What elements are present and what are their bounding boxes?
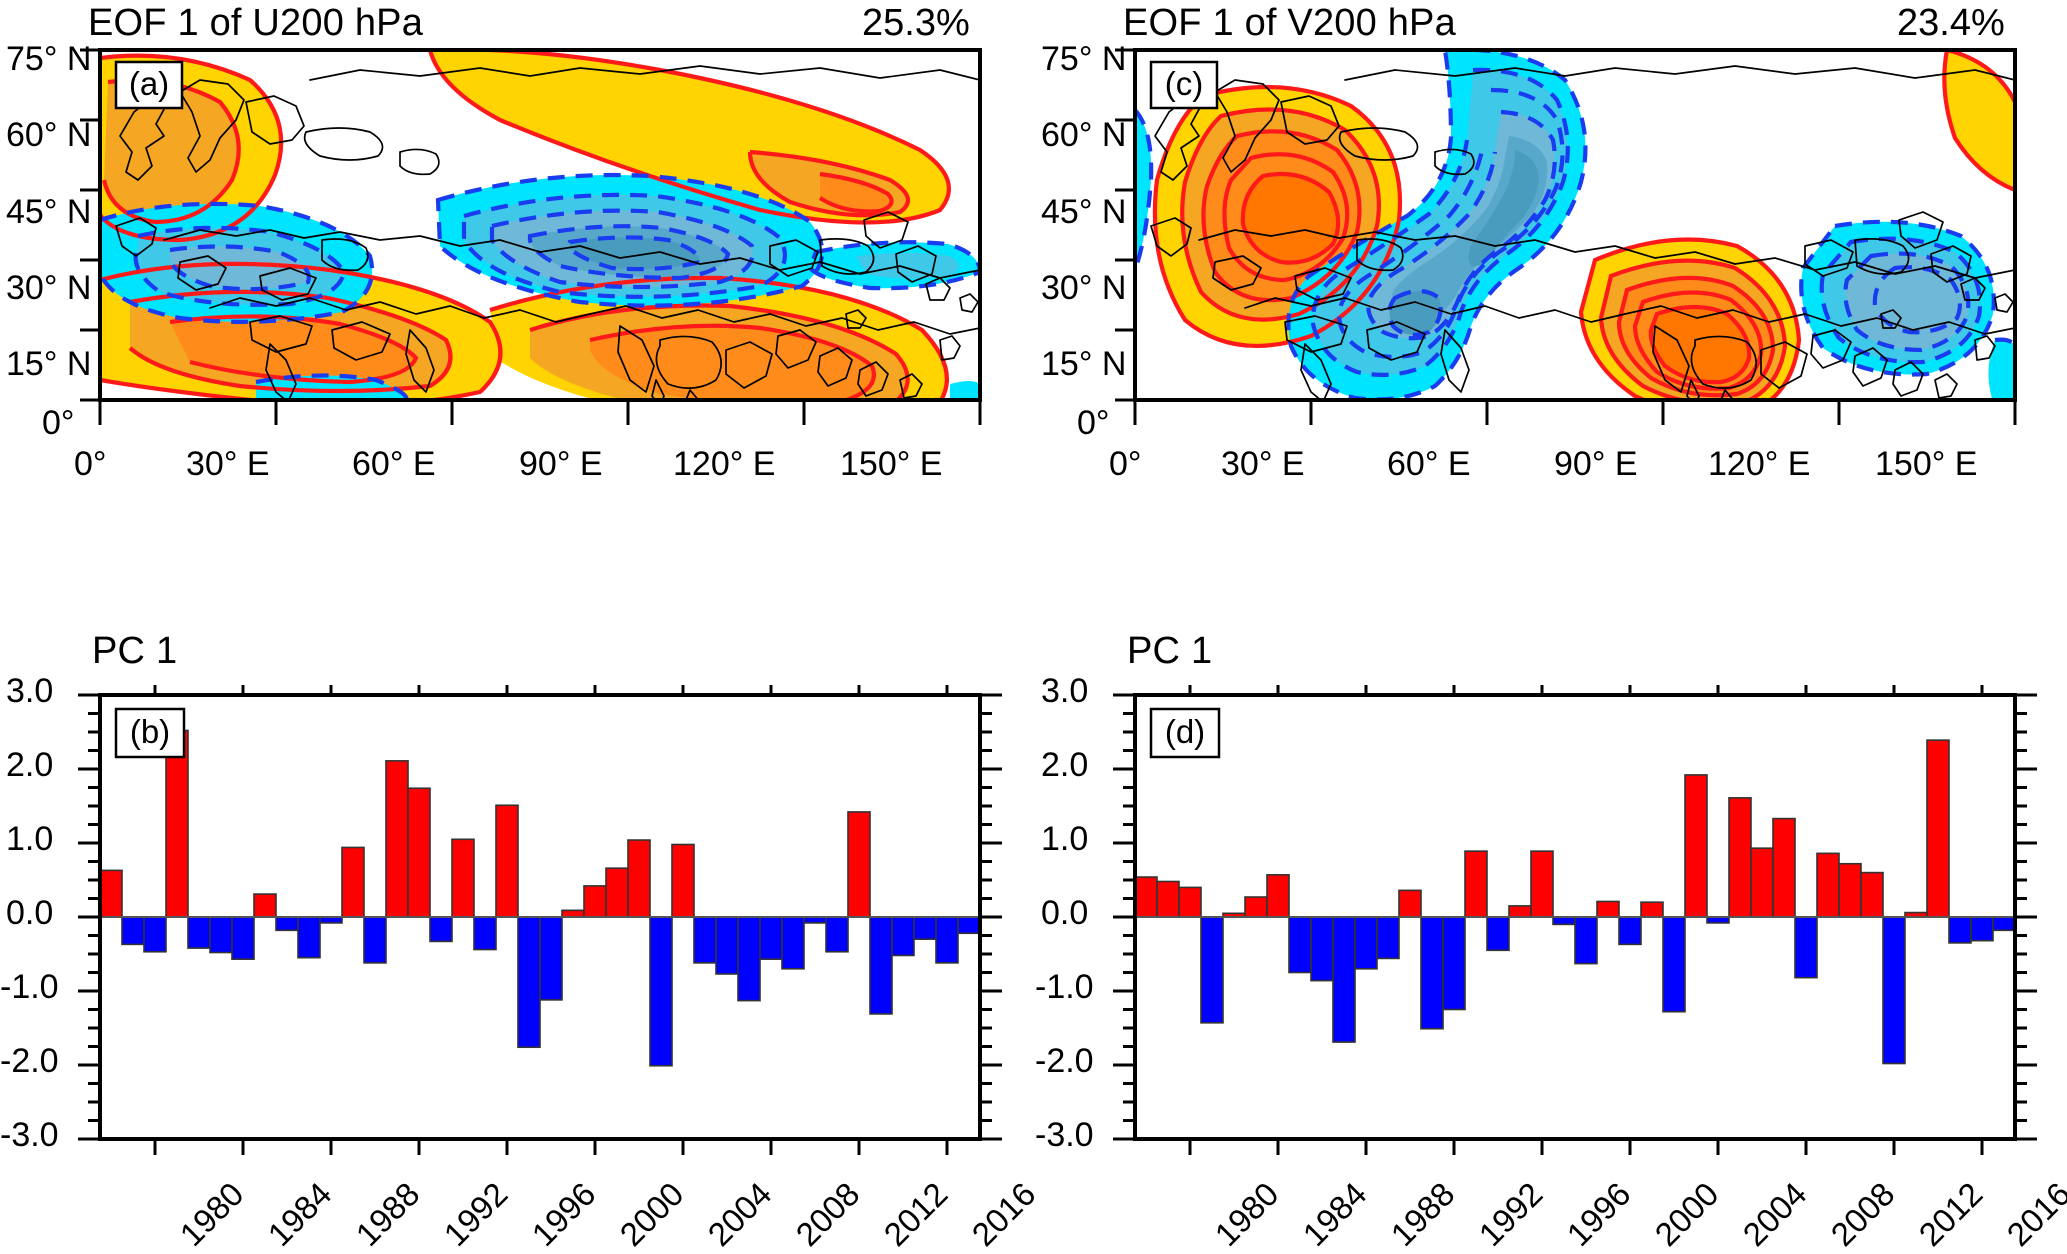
bar [848, 812, 870, 917]
panel-d-y-0: 0.0 [1041, 894, 1088, 933]
year-label: 2016 [965, 1175, 1044, 1254]
panel-c-plot: (c) [1095, 40, 2055, 460]
bar [1883, 917, 1905, 1064]
panel-b-plot: (b) [60, 685, 1020, 1155]
panel-d-label-text: (d) [1165, 713, 1205, 750]
bar [1685, 775, 1707, 917]
bar [650, 917, 672, 1066]
bar [782, 917, 804, 969]
bar [1531, 851, 1553, 917]
bar [584, 886, 606, 917]
bar [1839, 864, 1861, 917]
year-label: 2004 [1736, 1175, 1815, 1254]
year-label: 1980 [1208, 1175, 1287, 1254]
bar [166, 731, 188, 917]
year-label: 2012 [1912, 1175, 1991, 1254]
panel-b-y-0: 0.0 [6, 894, 53, 933]
bar [1619, 917, 1641, 944]
bar [452, 839, 474, 917]
year-label: 2008 [1824, 1175, 1903, 1254]
bar [1135, 877, 1157, 917]
bar [1465, 851, 1487, 917]
bar [1333, 917, 1355, 1042]
year-label: 1996 [525, 1175, 604, 1254]
panel-c-variance: 23.4% [1897, 2, 2005, 45]
bar [1399, 890, 1421, 917]
panel-d-plot: (d) [1095, 685, 2055, 1155]
panel-b-y-3: 3.0 [6, 672, 53, 711]
bar [1927, 740, 1949, 917]
bar [496, 805, 518, 917]
panel-c-label-text: (c) [1165, 65, 1203, 102]
panel-d-bars [1135, 740, 2015, 1063]
year-label: 1992 [437, 1175, 516, 1254]
year-label: 1996 [1560, 1175, 1639, 1254]
panel-a-title: EOF 1 of U200 hPa [88, 2, 423, 45]
bar [342, 847, 364, 917]
bar [1509, 906, 1531, 917]
bar [298, 917, 320, 958]
bar [386, 761, 408, 917]
bar [738, 917, 760, 1001]
bar [1267, 875, 1289, 917]
bar [1421, 917, 1443, 1029]
panel-b-y-m3: -3.0 [0, 1116, 59, 1155]
panel-b-label-text: (b) [130, 713, 170, 750]
panel-d-y-3: 3.0 [1041, 672, 1088, 711]
panel-a-label-text: (a) [129, 65, 169, 102]
bar [1729, 798, 1751, 917]
bar [1575, 917, 1597, 964]
year-label: 2016 [2000, 1175, 2067, 1254]
year-label: 1984 [1296, 1175, 1375, 1254]
panel-d-y-1: 1.0 [1041, 820, 1088, 859]
bar [760, 917, 782, 959]
panel-b-y-1: 1.0 [6, 820, 53, 859]
panel-d-title: PC 1 [1127, 630, 1212, 673]
bar [1311, 917, 1333, 981]
bar [672, 844, 694, 917]
bar [1795, 917, 1817, 978]
bar [1817, 853, 1839, 917]
year-label: 2012 [877, 1175, 956, 1254]
bar [1157, 881, 1179, 917]
panel-a-plot: (a) [60, 40, 1020, 460]
bar [958, 917, 980, 933]
year-label: 2008 [789, 1175, 868, 1254]
bar [1993, 917, 2015, 930]
bar [254, 894, 276, 917]
panel-a-variance: 25.3% [862, 2, 970, 45]
year-label: 1992 [1472, 1175, 1551, 1254]
bar [870, 917, 892, 1014]
bar [628, 840, 650, 917]
bar [914, 917, 936, 939]
bar [1355, 917, 1377, 969]
bar [232, 917, 254, 959]
bar [1773, 819, 1795, 917]
panel-d-y-m3: -3.0 [1035, 1116, 1094, 1155]
year-label: 1980 [173, 1175, 252, 1254]
bar [1553, 917, 1575, 924]
bar [518, 917, 540, 1047]
panel-c-map: EOF 1 of V200 hPa 23.4% 75° N 60° N 45° … [1035, 0, 2065, 640]
panel-d-label: (d) [1151, 709, 1219, 757]
bar [1245, 897, 1267, 917]
year-label: 2000 [613, 1175, 692, 1254]
bar [1487, 917, 1509, 950]
panel-d-y-m1: -1.0 [1035, 968, 1094, 1007]
year-label: 1984 [261, 1175, 340, 1254]
bar [1861, 873, 1883, 917]
bar [1949, 917, 1971, 943]
bar [892, 917, 914, 955]
bar [210, 917, 232, 953]
bar [1443, 917, 1465, 1010]
bar [408, 788, 430, 917]
panel-a-label: (a) [116, 62, 182, 108]
panel-b-label: (b) [116, 709, 184, 757]
bar [1377, 917, 1399, 958]
bar [1179, 887, 1201, 917]
bar [122, 917, 144, 944]
panel-b-y-m2: -2.0 [0, 1042, 59, 1081]
year-label: 2000 [1648, 1175, 1727, 1254]
panel-b-y-2: 2.0 [6, 746, 53, 785]
bar [694, 917, 716, 963]
panel-c-label: (c) [1151, 62, 1217, 108]
bar [1289, 917, 1311, 973]
bar [1641, 902, 1663, 917]
bar [144, 917, 166, 952]
bar [430, 917, 452, 941]
bar [364, 917, 386, 963]
bar [276, 917, 298, 930]
panel-b-bars [100, 731, 980, 1066]
bar [936, 917, 958, 963]
bar [188, 917, 210, 948]
bar [1597, 901, 1619, 917]
bar [826, 917, 848, 952]
panel-b-title: PC 1 [92, 630, 177, 673]
bar [1663, 917, 1685, 1012]
bar [606, 868, 628, 917]
panel-d-barchart: PC 1 3.0 2.0 1.0 0.0 -1.0 -2.0 -3.0 (d) … [1035, 630, 2065, 1212]
bar [474, 917, 496, 950]
figure-root: EOF 1 of U200 hPa 25.3% 75° N 60° N 45° … [0, 0, 2067, 1212]
bar [1201, 917, 1223, 1023]
panel-d-y-2: 2.0 [1041, 746, 1088, 785]
panel-b-y-m1: -1.0 [0, 968, 59, 1007]
panel-a-map: EOF 1 of U200 hPa 25.3% 75° N 60° N 45° … [0, 0, 1030, 640]
bar [1751, 848, 1773, 917]
year-label: 1988 [1384, 1175, 1463, 1254]
panel-c-title: EOF 1 of V200 hPa [1123, 2, 1456, 45]
year-label: 2004 [701, 1175, 780, 1254]
panel-b-barchart: PC 1 3.0 2.0 1.0 0.0 -1.0 -2.0 -3.0 (b) … [0, 630, 1030, 1212]
bar [100, 870, 122, 917]
panel-d-y-m2: -2.0 [1035, 1042, 1094, 1081]
bar [540, 917, 562, 1000]
year-label: 1988 [349, 1175, 428, 1254]
bar [716, 917, 738, 974]
bar [1971, 917, 1993, 941]
